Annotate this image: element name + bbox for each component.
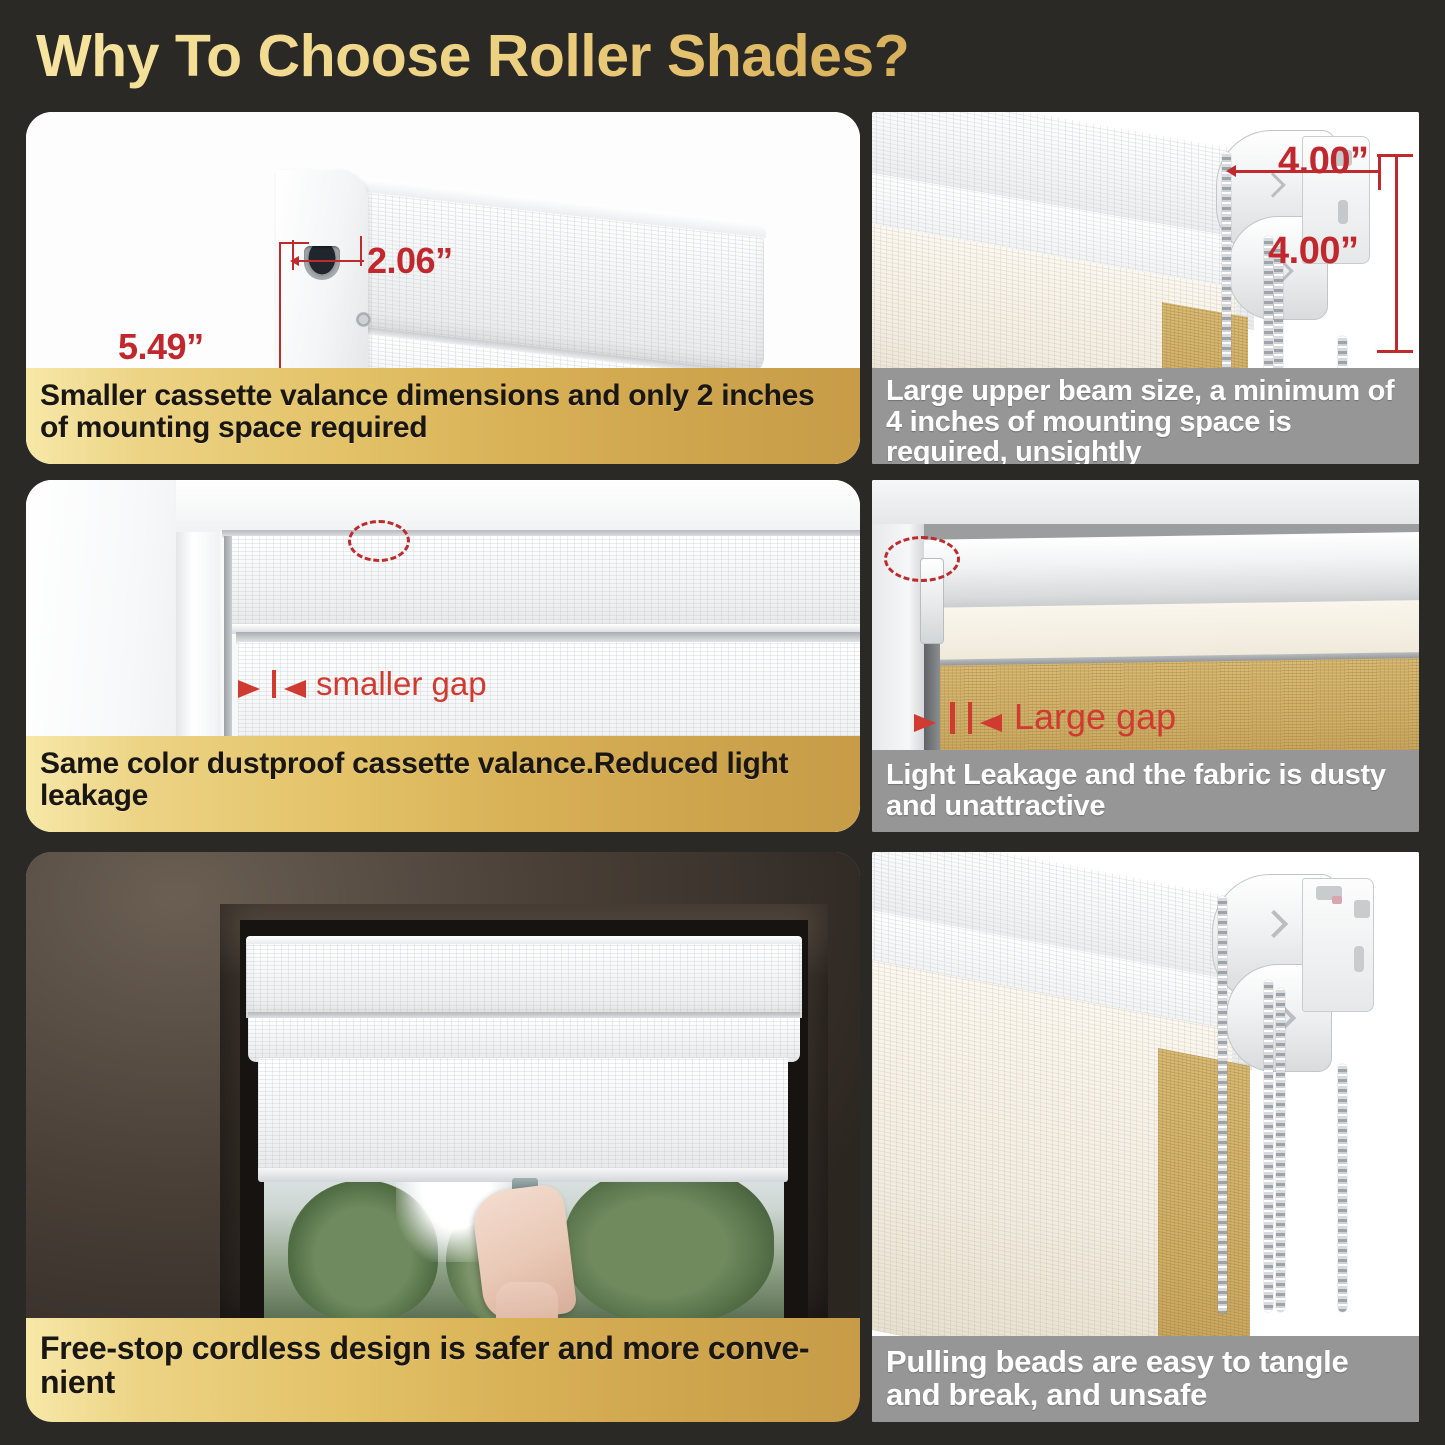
panel-light-leakage: Large gap Light Leakage and the fabric i…	[872, 480, 1419, 832]
highlight-circle-icon	[884, 536, 960, 582]
beam-height-label: 4.00”	[1268, 230, 1358, 273]
beam-height-tick-bottom	[1377, 350, 1413, 353]
gap-label: smaller gap	[316, 665, 487, 703]
width-dim-arrowhead	[290, 256, 299, 266]
panel-pulling-beads: Pulling beads are easy to tangle and bre…	[872, 852, 1419, 1422]
panel-cordless-design: Free-stop cordless design is safer and m…	[26, 852, 860, 1422]
gap-tick-marker	[272, 670, 276, 698]
wall-upper	[872, 480, 1419, 524]
bracket-slot-icon-mid	[1338, 200, 1348, 224]
bead-chain-middle	[1264, 980, 1273, 1312]
gap-tick-marker-b	[968, 702, 972, 734]
gap-label: Large gap	[1014, 696, 1176, 738]
panel-caption: Same color dustproof cassette valance.Re…	[26, 736, 860, 832]
page-title: Why To Choose Roller Shades?	[36, 22, 1236, 90]
infographic-page: Why To Choose Roller Shades? 2.06”	[0, 0, 1445, 1445]
highlight-circle-icon	[348, 520, 410, 562]
gap-tick-marker-a	[950, 702, 955, 734]
shade-valance-face	[246, 944, 802, 1018]
gap-arrow-right	[980, 714, 1002, 732]
gap-arrow-left	[238, 680, 260, 698]
gap-arrow-left	[914, 714, 936, 732]
window-casing-top	[176, 480, 860, 532]
panel-caption: Smaller cassette valance dimensions and …	[26, 368, 860, 464]
panel-cassette-dimensions: 2.06” 5.49” Smaller cassette valance dim…	[26, 112, 860, 464]
width-dimension-label: 2.06”	[367, 240, 453, 282]
beam-height-line	[1395, 154, 1398, 352]
bead-chain-rear	[1276, 988, 1285, 1312]
panel-large-beam: 4.00” 4.00” Large upper beam size, a min…	[872, 112, 1419, 464]
panel-caption: Light Leakage and the fabric is dusty an…	[872, 750, 1419, 832]
height-dim-tick-top	[279, 242, 309, 244]
panel-caption: Large upper beam size, a minimum of 4 in…	[872, 368, 1419, 464]
bracket-pink-dot-icon	[1332, 896, 1342, 904]
beam-width-label: 4.00”	[1278, 140, 1368, 183]
shade-fabric-body	[258, 1058, 788, 1172]
gap-arrow-right	[284, 680, 306, 698]
bead-chain-front	[1218, 896, 1227, 1314]
width-dim-arrow-line	[292, 260, 364, 262]
tree-foliage-right	[564, 1166, 774, 1318]
bead-chain-tail	[1338, 1064, 1347, 1312]
panel-caption: Pulling beads are easy to tangle and bre…	[872, 1336, 1419, 1422]
beam-height-tick-top	[1377, 154, 1413, 157]
valance-front-face	[224, 536, 860, 628]
bracket-slot-icon-mid	[1354, 946, 1364, 972]
height-dimension-label: 5.49”	[118, 326, 204, 368]
bracket-slot-icon-upper-right	[1354, 900, 1370, 918]
beam-width-arrowhead	[1226, 165, 1236, 177]
end-cap-screw-icon	[356, 312, 371, 327]
beam-width-tick	[1378, 156, 1381, 190]
shade-valance-lower-lip	[248, 1018, 800, 1062]
panel-caption: Free-stop cordless design is safer and m…	[26, 1318, 860, 1422]
panel-dustproof-valance: smaller gap Same color dustproof cassett…	[26, 480, 860, 832]
